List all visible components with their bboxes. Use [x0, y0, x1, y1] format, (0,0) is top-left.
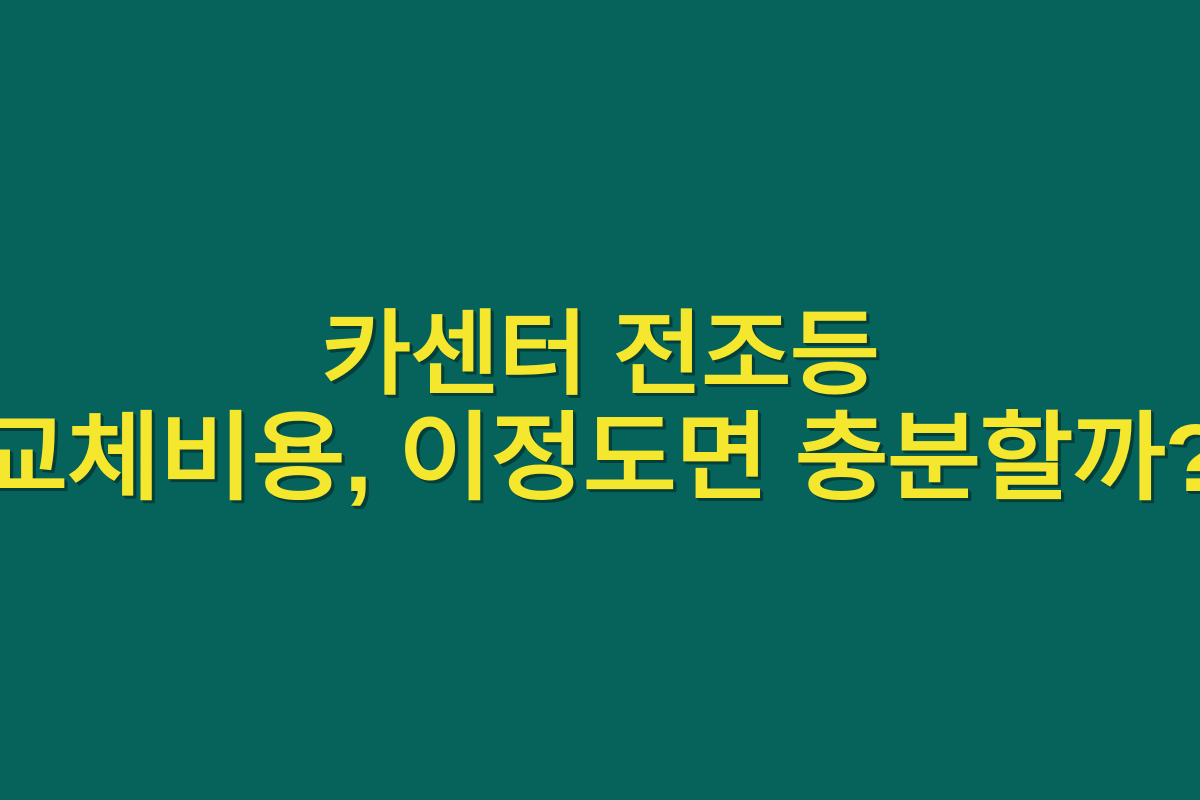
title-card-canvas: 카센터 전조등 교체비용, 이정도면 충분할까? — [0, 0, 1200, 800]
headline-line-2: 교체비용, 이정도면 충분할까? — [0, 411, 1200, 507]
headline-line-1: 카센터 전조등 — [0, 309, 1200, 401]
headline-block: 카센터 전조등 교체비용, 이정도면 충분할까? — [0, 0, 1200, 800]
